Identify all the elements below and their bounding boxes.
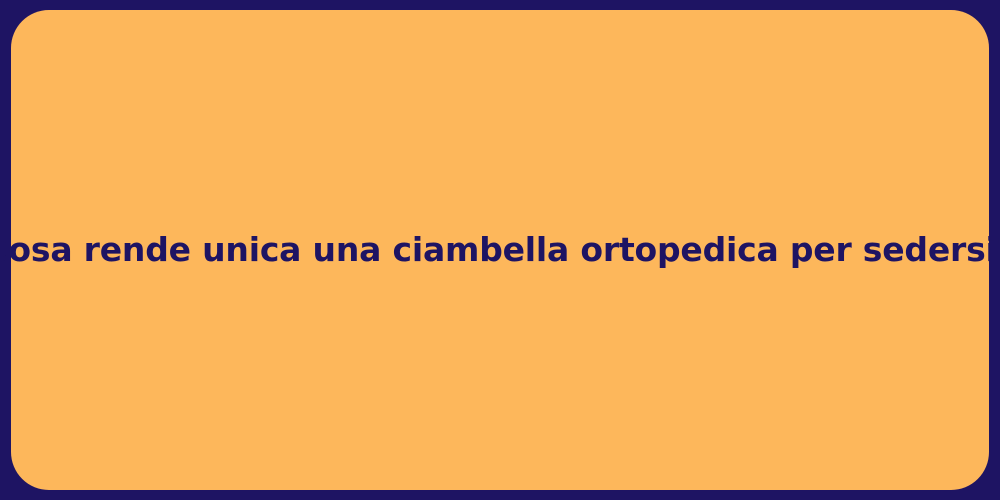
card-frame: Cosa rende unica una ciambella ortopedic…	[0, 0, 1000, 500]
question-card: Cosa rende unica una ciambella ortopedic…	[11, 10, 989, 490]
headline-text: Cosa rende unica una ciambella ortopedic…	[0, 229, 1000, 270]
